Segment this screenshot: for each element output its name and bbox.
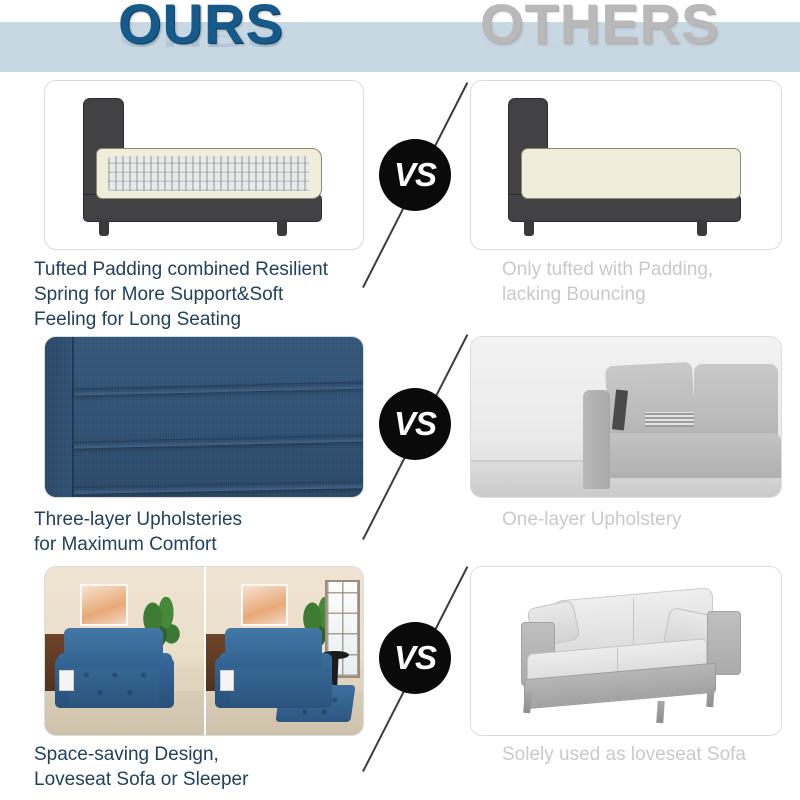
ours-caption-3: Space-saving Design, Loveseat Sofa or Sl… (34, 742, 374, 792)
comparison-header: OURS OTHERS OURS OTHERS (0, 0, 800, 75)
ours-caption-1: Tufted Padding combined Resilient Spring… (34, 257, 374, 332)
back-cushion (694, 364, 778, 441)
bed-leg-left (99, 220, 109, 235)
others-caption-2: One-layer Upholstery (502, 507, 800, 532)
vs-badge: VS (379, 139, 451, 211)
diagonal-divider-line (362, 566, 468, 772)
plain-padding-mattress (521, 148, 741, 198)
blue-upholstery-closeup (45, 337, 363, 497)
bed-plain-illustration (471, 81, 781, 249)
loveseat-leg (656, 701, 665, 723)
loveseat-arm-right (159, 658, 173, 708)
comparison-row-2: VS Three-layer Upholsteries for Maximum … (0, 330, 800, 565)
blue-loveseat-backrest (225, 628, 322, 668)
bed-spring-illustration (45, 81, 363, 249)
fabric-texture (45, 337, 363, 497)
others-image-card-1 (470, 80, 782, 250)
comparison-row-3: VS Space-saving Design, Loveseat Sofa or… (0, 562, 800, 800)
diagonal-divider-line (362, 82, 468, 288)
ours-image-card-3 (44, 566, 364, 736)
comparison-row-1: VS Tufted Padding combined Resilient Spr… (0, 75, 800, 325)
loveseat-leg (523, 691, 532, 713)
others-title: OTHERS (480, 0, 719, 52)
scene-pane-loveseat (45, 567, 204, 735)
ours-title: OURS (118, 0, 284, 52)
wall-art (80, 584, 128, 626)
diagonal-divider-line (362, 334, 468, 540)
others-caption-1: Only tufted with Padding, lacking Bounci… (502, 257, 800, 307)
gray-sofa-photo (471, 337, 781, 497)
bed-leg-left (524, 220, 534, 235)
sofa-arm (583, 390, 611, 489)
others-image-card-2 (470, 336, 782, 498)
ours-image-card-2 (44, 336, 364, 498)
wall-art (241, 584, 288, 626)
ours-caption-2: Three-layer Upholsteries for Maximum Com… (34, 507, 374, 557)
seat-cushion (601, 433, 781, 478)
product-tag (220, 670, 234, 692)
gray-loveseat-illustration (471, 567, 781, 735)
scene-pane-sleeper (204, 567, 363, 735)
bed-leg-right (277, 220, 287, 235)
bed-leg-right (697, 220, 707, 235)
coil-spring-core (108, 156, 309, 191)
blue-loveseat-backrest (64, 628, 163, 668)
vs-badge: VS (379, 388, 451, 460)
product-tag (59, 670, 73, 692)
ours-image-card-1 (44, 80, 364, 250)
stacked-books (645, 412, 695, 426)
vs-badge: VS (379, 622, 451, 694)
others-image-card-3 (470, 566, 782, 736)
others-caption-3: Solely used as loveseat Sofa (502, 742, 800, 767)
loveseat-leg (706, 684, 715, 706)
spring-mattress (96, 148, 322, 198)
loveseat-sleeper-split-scene (45, 567, 363, 735)
